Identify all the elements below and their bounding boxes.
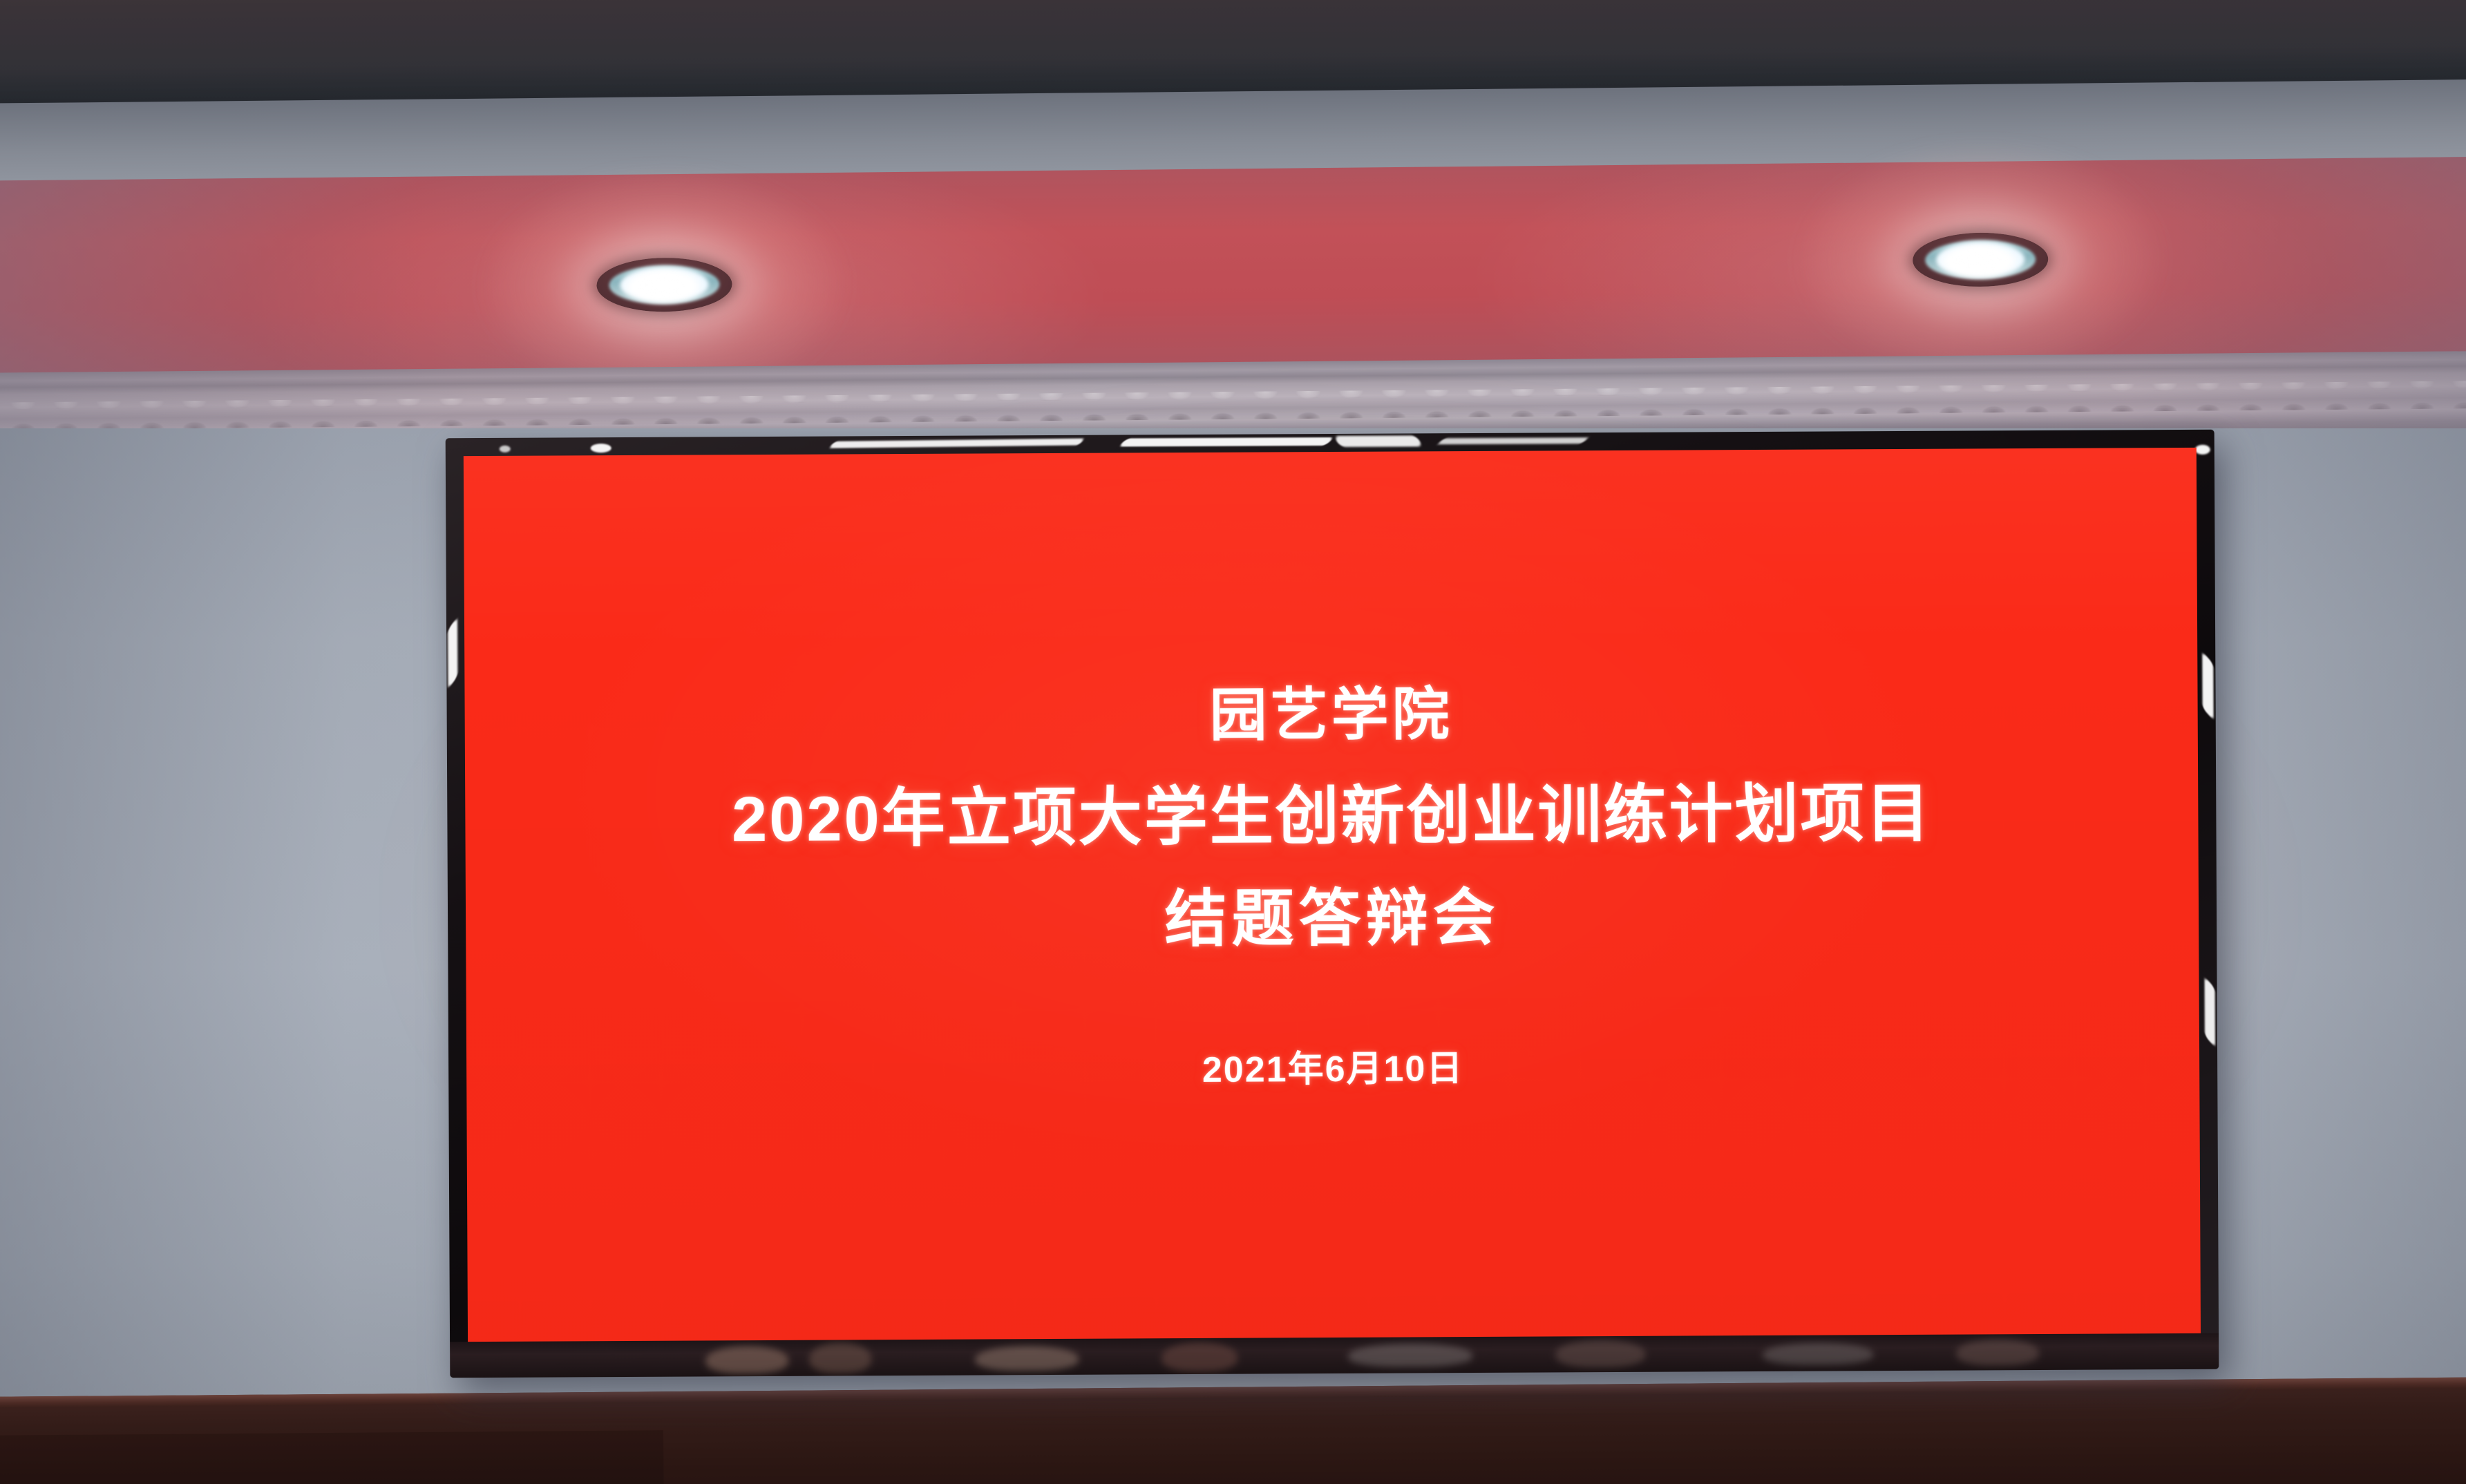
- bezel-highlight-right-2: [2205, 977, 2216, 1048]
- conference-room-scene: 园艺学院 2020年立项大学生创新创业训练计划项目 结题答辩会 2021年6月1…: [0, 0, 2466, 1484]
- slide-title-line: 2020年立项大学生创新创业训练计划项目: [465, 775, 2199, 859]
- wall-mounted-led-display[interactable]: 园艺学院 2020年立项大学生创新创业训练计划项目 结题答辩会 2021年6月1…: [446, 430, 2219, 1378]
- bezel-reflection-3: [975, 1346, 1079, 1371]
- slide-subtitle-line: 结题答辩会: [466, 878, 2199, 960]
- bezel-highlight-corner-dot: [2195, 445, 2210, 455]
- bezel-highlight-left: [448, 617, 457, 689]
- display-screen[interactable]: 园艺学院 2020年立项大学生创新创业训练计划项目 结题答辩会 2021年6月1…: [464, 448, 2201, 1346]
- bezel-reflection-8: [1956, 1339, 2039, 1366]
- display-bezel: 园艺学院 2020年立项大学生创新创业训练计划项目 结题答辩会 2021年6月1…: [446, 430, 2219, 1378]
- bezel-highlight-top-1: [828, 438, 1085, 448]
- bezel-reflection-6: [1555, 1340, 1645, 1368]
- ceiling-soffit: [0, 156, 2466, 388]
- bezel-reflection-7: [1763, 1342, 1873, 1365]
- bezel-highlight-top-dot-2: [500, 446, 511, 453]
- bezel-highlight-top-dot-1: [591, 444, 611, 453]
- bezel-highlight-top-3: [1334, 435, 1423, 447]
- bezel-reflection-4: [1161, 1342, 1237, 1372]
- slide-organization-line: 园艺学院: [464, 677, 2197, 753]
- bezel-highlight-right-1: [2202, 651, 2213, 721]
- bezel-highlight-top-2: [1119, 437, 1334, 447]
- bezel-reflection-5: [1348, 1343, 1472, 1367]
- dark-floor-panel: [0, 1430, 664, 1484]
- bezel-highlight-top-4: [1436, 437, 1589, 444]
- slide-date-line: 2021年6月10日: [466, 1036, 2199, 1096]
- bezel-reflection-2: [809, 1342, 871, 1373]
- presentation-slide: 园艺学院 2020年立项大学生创新创业训练计划项目 结题答辩会 2021年6月1…: [464, 677, 2199, 1116]
- bezel-reflection-1: [705, 1346, 788, 1374]
